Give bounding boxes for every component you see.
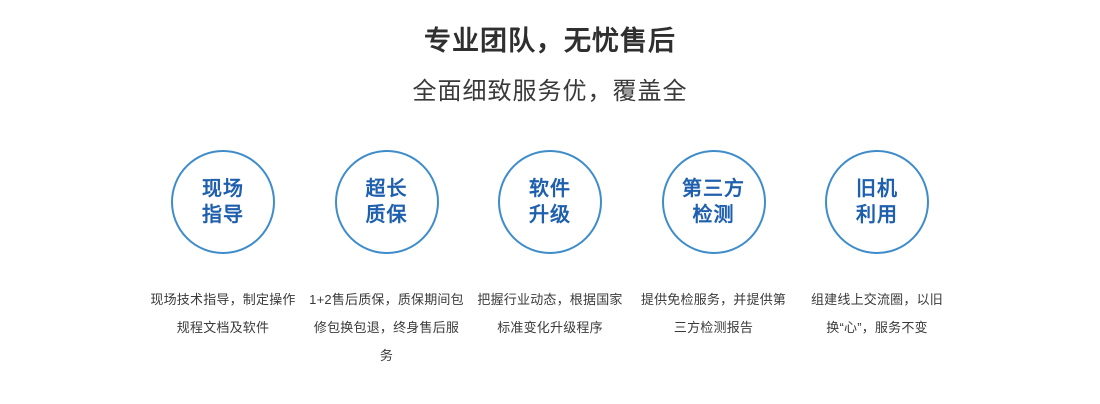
feature-caption-line1: 现场技术指导，制定操作	[145, 286, 301, 314]
feature-circle-line2: 利用	[856, 202, 898, 228]
feature-item-extended-warranty[interactable]: 超长 质保 1+2售后质保，质保期间包 修包换包退，终身售后服务	[309, 150, 465, 370]
feature-list: 现场 指导 现场技术指导，制定操作 规程文档及软件 超长 质保 1+2售后质保，…	[145, 150, 955, 370]
feature-caption-line2: 三方检测报告	[636, 314, 792, 342]
feature-caption-line2: 规程文档及软件	[145, 314, 301, 342]
feature-caption: 把握行业动态，根据国家 标准变化升级程序	[472, 286, 628, 342]
feature-circle[interactable]: 第三方 检测	[662, 150, 766, 254]
heading-block: 专业团队，无忧售后 全面细致服务优，覆盖全	[0, 24, 1100, 108]
feature-caption-line1: 提供免检服务，并提供第	[636, 286, 792, 314]
feature-circle[interactable]: 软件 升级	[498, 150, 602, 254]
feature-caption-line1: 把握行业动态，根据国家	[472, 286, 628, 314]
feature-circle-line2: 指导	[202, 202, 244, 228]
feature-item-third-party-inspection[interactable]: 第三方 检测 提供免检服务，并提供第 三方检测报告	[636, 150, 792, 342]
feature-circle-line1: 超长	[366, 176, 408, 202]
feature-caption: 1+2售后质保，质保期间包 修包换包退，终身售后服务	[309, 286, 465, 370]
feature-item-onsite-guidance[interactable]: 现场 指导 现场技术指导，制定操作 规程文档及软件	[145, 150, 301, 342]
feature-circle[interactable]: 旧机 利用	[825, 150, 929, 254]
feature-caption-line2: 标准变化升级程序	[472, 314, 628, 342]
feature-circle[interactable]: 现场 指导	[171, 150, 275, 254]
feature-circle-line1: 第三方	[682, 176, 745, 202]
feature-caption: 现场技术指导，制定操作 规程文档及软件	[145, 286, 301, 342]
feature-item-software-upgrade[interactable]: 软件 升级 把握行业动态，根据国家 标准变化升级程序	[472, 150, 628, 342]
service-promo-page: 专业团队，无忧售后 全面细致服务优，覆盖全 现场 指导 现场技术指导，制定操作 …	[0, 0, 1100, 404]
page-subtitle: 全面细致服务优，覆盖全	[0, 76, 1100, 108]
feature-caption-line2: 修包换包退，终身售后服务	[309, 314, 465, 370]
feature-circle-line2: 质保	[366, 202, 408, 228]
feature-circle-line1: 旧机	[856, 176, 898, 202]
page-title: 专业团队，无忧售后	[0, 24, 1100, 58]
feature-circle-line2: 检测	[693, 202, 735, 228]
feature-caption-line2: 换“心”，服务不变	[799, 314, 955, 342]
feature-circle-line1: 软件	[529, 176, 571, 202]
feature-caption: 组建线上交流圈，以旧 换“心”，服务不变	[799, 286, 955, 342]
feature-caption: 提供免检服务，并提供第 三方检测报告	[636, 286, 792, 342]
feature-circle[interactable]: 超长 质保	[335, 150, 439, 254]
feature-circle-line2: 升级	[529, 202, 571, 228]
feature-caption-line1: 1+2售后质保，质保期间包	[309, 286, 465, 314]
feature-caption-line1: 组建线上交流圈，以旧	[799, 286, 955, 314]
feature-circle-line1: 现场	[202, 176, 244, 202]
feature-item-trade-in[interactable]: 旧机 利用 组建线上交流圈，以旧 换“心”，服务不变	[799, 150, 955, 342]
